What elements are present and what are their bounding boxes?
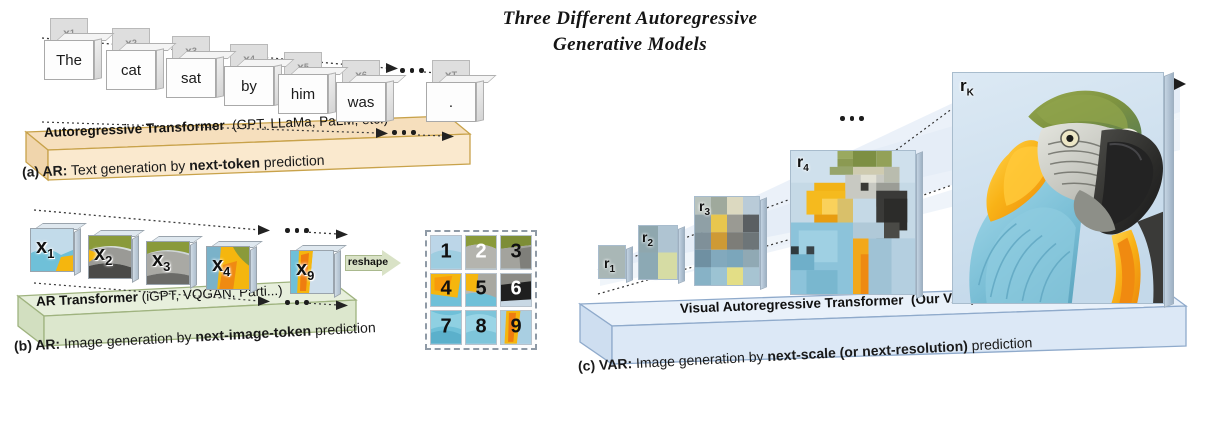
image-token-9-depth bbox=[334, 250, 341, 298]
panel-c-caption-lead: (c) VAR: bbox=[578, 355, 633, 374]
text-token-3-word: sat bbox=[166, 58, 216, 98]
image-token-2-depth bbox=[132, 235, 139, 283]
image-token-2-label: x2 bbox=[94, 243, 112, 268]
scale-plane-r2-sub: 2 bbox=[647, 238, 653, 249]
scale-plane-rK-surface bbox=[952, 72, 1164, 304]
scale-plane-r4-label: r4 bbox=[797, 154, 809, 174]
text-token-1-side bbox=[94, 38, 102, 80]
text-token-6-word: was bbox=[336, 82, 386, 122]
scale-plane-r1-edge bbox=[626, 246, 633, 283]
scale-plane-r3-sub: 3 bbox=[704, 207, 710, 218]
scale-plane-r4-edge bbox=[916, 151, 923, 299]
grid-cell-6: 6 bbox=[500, 273, 532, 308]
figure-title-line1: Three Different Autoregressive bbox=[470, 6, 790, 32]
panel-b-caption-lead: (b) AR: bbox=[14, 336, 61, 354]
scale-plane-r4[interactable]: r4 bbox=[790, 150, 916, 295]
image-token-3-label: x3 bbox=[152, 249, 170, 274]
scale-plane-r3[interactable]: r3 bbox=[694, 196, 760, 286]
image-token-4-depth bbox=[250, 246, 257, 294]
figure-title: Three Different Autoregressive Generativ… bbox=[470, 6, 790, 58]
image-token-4[interactable]: x4 bbox=[206, 246, 254, 294]
scale-plane-r4-sub: 4 bbox=[803, 163, 809, 174]
grid-cell-5: 5 bbox=[465, 273, 497, 308]
image-token-1-label: x1 bbox=[36, 236, 54, 261]
image-token-4-label: x4 bbox=[212, 254, 230, 279]
panel-b-ellipsis-top bbox=[285, 228, 309, 233]
scale-plane-r3-label: r3 bbox=[699, 198, 710, 218]
text-token-1-word: The bbox=[44, 40, 94, 80]
image-token-3[interactable]: x3 bbox=[146, 241, 194, 289]
panel-a-ellipsis-top bbox=[400, 68, 424, 73]
image-token-9-sub: 9 bbox=[307, 268, 314, 283]
scale-plane-r2[interactable]: r2 bbox=[638, 225, 678, 280]
reshape-arrow: reshape bbox=[345, 250, 403, 276]
panel-b-caption-post: prediction bbox=[315, 319, 376, 338]
image-token-2-sub: 2 bbox=[105, 253, 112, 268]
text-token-last-word: . bbox=[426, 82, 476, 122]
scale-plane-r1[interactable]: r1 bbox=[598, 245, 626, 279]
scale-plane-rK[interactable]: rK bbox=[952, 72, 1164, 304]
panel-a-caption-emph: next-token bbox=[189, 154, 260, 173]
grid-cell-2: 2 bbox=[465, 235, 497, 270]
grid-cell-5-label: 5 bbox=[475, 278, 486, 301]
grid-cell-6-label: 6 bbox=[510, 278, 521, 301]
panel-c-ellipsis-upper bbox=[840, 116, 864, 121]
grid-cell-4-label: 4 bbox=[440, 278, 451, 301]
scale-plane-rK-sub: K bbox=[967, 87, 974, 98]
image-token-1-sub: 1 bbox=[47, 246, 54, 261]
grid-cell-3-label: 3 bbox=[510, 240, 521, 263]
panel-a-caption-lead: (a) AR: bbox=[22, 162, 68, 180]
image-token-9[interactable]: x9 bbox=[290, 250, 338, 298]
text-token-6-side bbox=[386, 80, 394, 122]
text-token-5-side bbox=[328, 72, 336, 114]
scale-plane-r2-label: r2 bbox=[642, 229, 653, 249]
scale-plane-r3-edge bbox=[760, 197, 767, 290]
grid-cell-4: 4 bbox=[430, 273, 462, 308]
grid-cell-1: 1 bbox=[430, 235, 462, 270]
grid-cell-3: 3 bbox=[500, 235, 532, 270]
image-token-1-depth bbox=[74, 228, 81, 276]
panel-a-ellipsis-bottom bbox=[392, 130, 416, 135]
image-token-9-label: x9 bbox=[296, 258, 314, 283]
scale-plane-r1-sub: 1 bbox=[609, 264, 615, 275]
reshape-label: reshape bbox=[346, 256, 390, 268]
grid-cell-8: 8 bbox=[465, 310, 497, 345]
scale-plane-rK-label: rK bbox=[960, 76, 974, 98]
image-token-1[interactable]: x1 bbox=[30, 228, 78, 276]
grid-cell-1-label: 1 bbox=[440, 240, 451, 263]
grid-cell-7-label: 7 bbox=[440, 316, 451, 339]
grid-cell-2-label: 2 bbox=[475, 240, 486, 263]
text-token-2-side bbox=[156, 48, 164, 90]
text-token-2-word: cat bbox=[106, 50, 156, 90]
grid-cell-7: 7 bbox=[430, 310, 462, 345]
image-token-3-depth bbox=[190, 241, 197, 289]
image-token-4-sub: 4 bbox=[223, 264, 230, 279]
grid-cell-9: 9 bbox=[500, 310, 532, 345]
image-token-2[interactable]: x2 bbox=[88, 235, 136, 283]
figure-title-line2: Generative Models bbox=[470, 32, 790, 58]
grid-cell-8-label: 8 bbox=[475, 316, 486, 339]
text-token-4-word: by bbox=[224, 66, 274, 106]
panel-b-ellipsis-bottom bbox=[285, 300, 309, 305]
grid-cell-9-label: 9 bbox=[510, 316, 521, 339]
panel-c-caption-post: prediction bbox=[971, 334, 1032, 353]
figure-canvas: Three Different Autoregressive Generativ… bbox=[0, 0, 1206, 431]
text-token-last-side bbox=[476, 80, 484, 122]
reshaped-token-grid[interactable]: 1 2 3 bbox=[425, 230, 537, 350]
scale-plane-r2-edge bbox=[678, 226, 685, 284]
text-token-3-side bbox=[216, 56, 224, 98]
scale-plane-r1-label: r1 bbox=[604, 255, 615, 275]
image-token-3-sub: 3 bbox=[163, 259, 170, 274]
text-token-5-word: him bbox=[278, 74, 328, 114]
panel-a-slab-chain bbox=[40, 116, 460, 156]
scale-plane-rK-edge bbox=[1164, 72, 1174, 308]
